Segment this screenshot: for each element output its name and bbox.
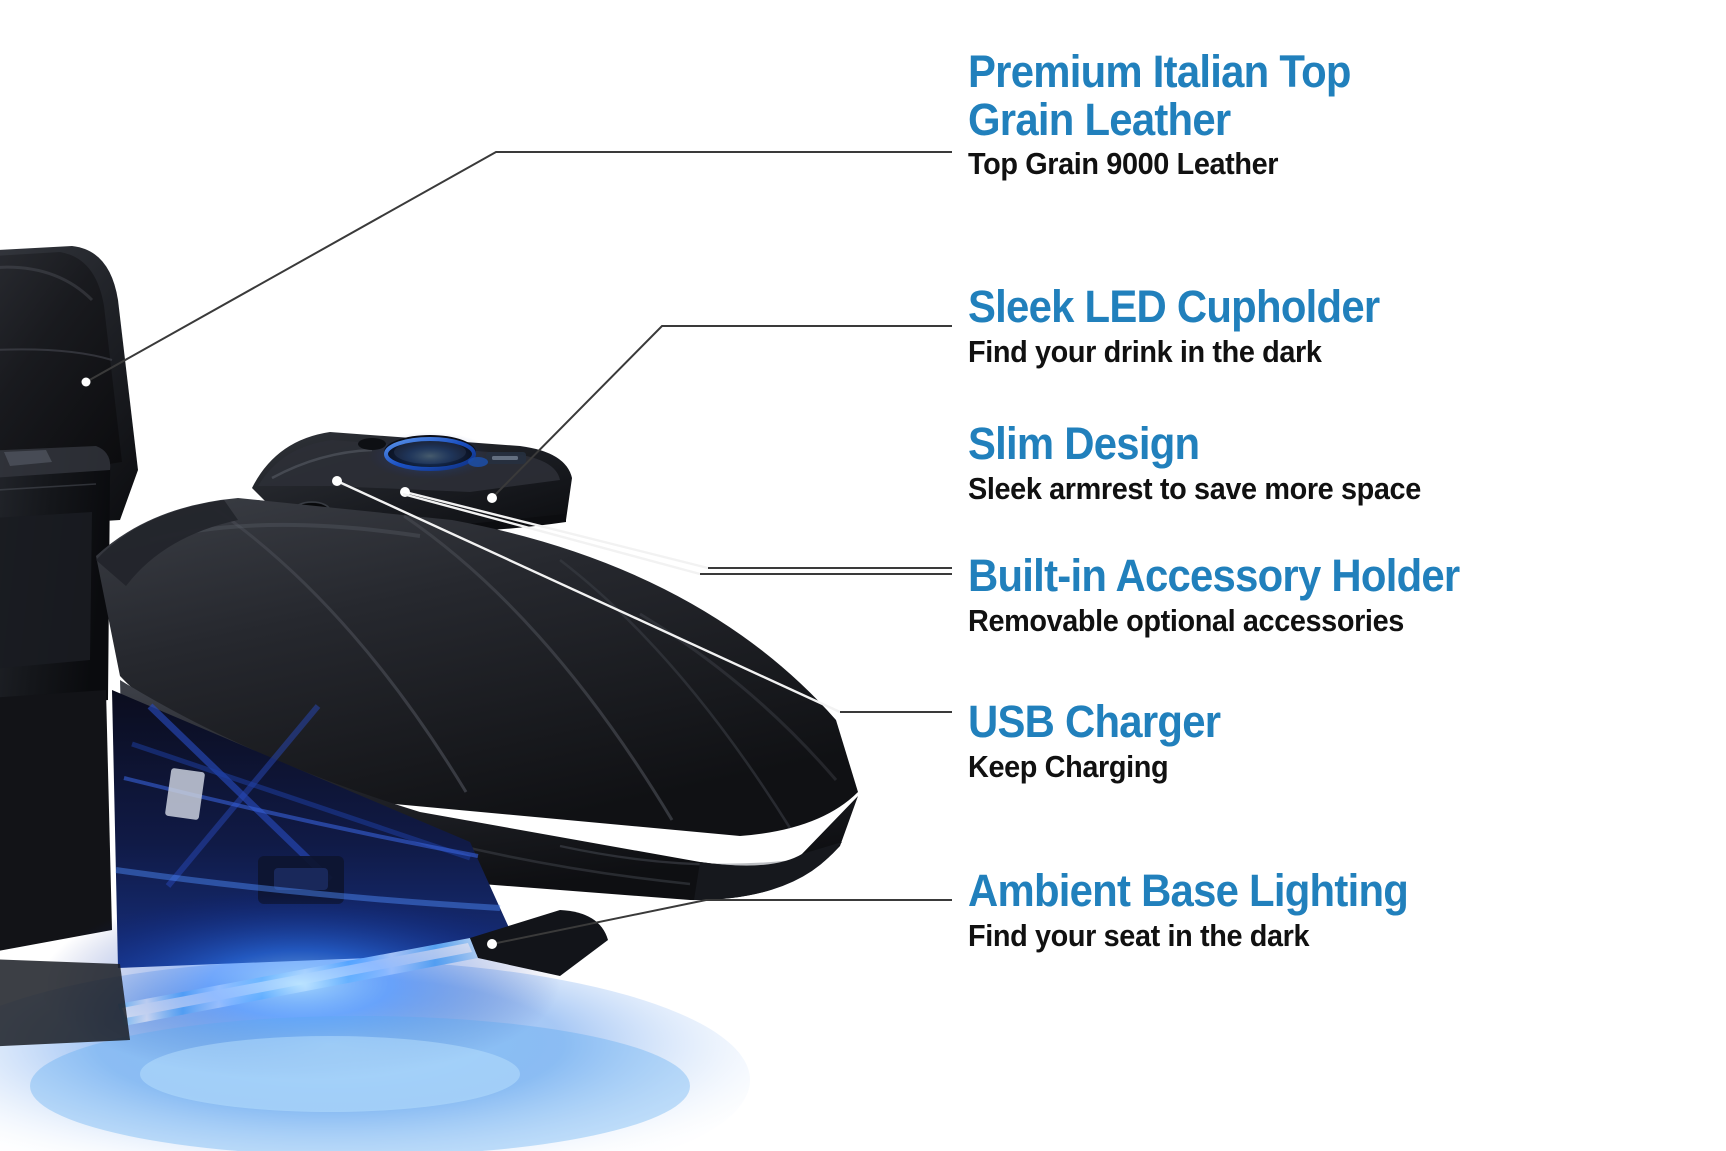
usb-port-slot	[492, 456, 518, 460]
floor-reflection-core	[140, 1036, 520, 1112]
callout-premium-italian-top-grain-leather: Premium Italian Top Grain Leather Top Gr…	[968, 48, 1380, 181]
callout-title: Built-in Accessory Holder	[968, 552, 1459, 600]
callout-subtitle: Find your seat in the dark	[968, 919, 1408, 953]
cupholder-led-glow	[368, 432, 492, 480]
callout-title: Sleek LED Cupholder	[968, 283, 1379, 331]
callout-ambient-base-lighting: Ambient Base Lighting Find your seat in …	[968, 867, 1441, 953]
control-button	[468, 457, 488, 467]
product-photo	[0, 0, 960, 1151]
callout-subtitle: Keep Charging	[968, 750, 1220, 784]
left-floor-shadow	[0, 958, 130, 1048]
motor-housing-detail	[274, 868, 328, 890]
callout-built-in-accessory-holder: Built-in Accessory Holder Removable opti…	[968, 552, 1496, 638]
footrest-end-cap	[694, 842, 842, 900]
callout-title: USB Charger	[968, 698, 1220, 746]
callout-sleek-led-cupholder: Sleek LED Cupholder Find your drink in t…	[968, 283, 1410, 369]
infographic-canvas: Premium Italian Top Grain Leather Top Gr…	[0, 0, 1726, 1151]
rear-base	[0, 690, 112, 958]
recliner-illustration	[0, 0, 960, 1151]
callout-title: Premium Italian Top Grain Leather	[968, 48, 1351, 143]
cupholder-secondary	[358, 438, 386, 450]
callout-slim-design: Slim Design Sleek armrest to save more s…	[968, 420, 1455, 506]
mechanism-label-tag	[165, 768, 205, 820]
callout-subtitle: Top Grain 9000 Leather	[968, 147, 1351, 181]
callout-usb-charger: USB Charger Keep Charging	[968, 698, 1239, 784]
callout-subtitle: Removable optional accessories	[968, 604, 1459, 638]
callout-subtitle: Find your drink in the dark	[968, 335, 1379, 369]
callout-subtitle: Sleek armrest to save more space	[968, 472, 1421, 506]
callout-title: Ambient Base Lighting	[968, 867, 1408, 915]
callout-title: Slim Design	[968, 420, 1421, 468]
rear-armrest-panel	[0, 512, 92, 672]
